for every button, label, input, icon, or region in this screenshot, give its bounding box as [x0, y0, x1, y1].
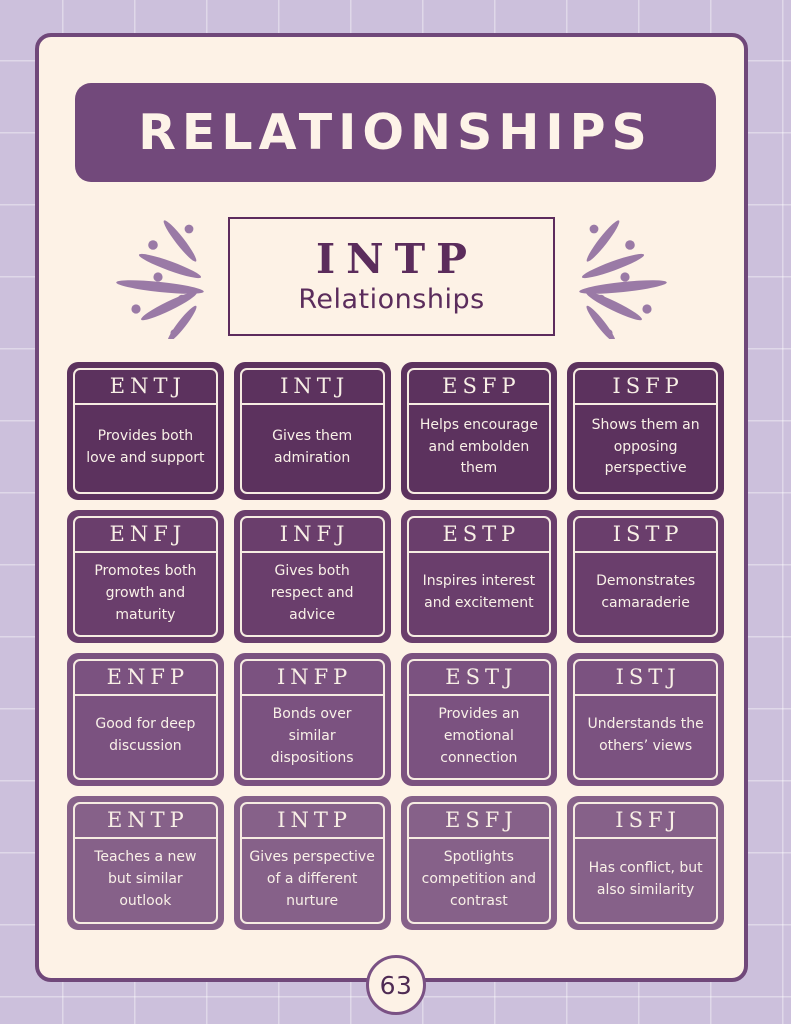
- type-card-code: ENFJ: [75, 518, 216, 553]
- type-card-inner: ESFJSpotlights competition and contrast: [407, 802, 552, 924]
- type-card-description: Gives both respect and advice: [242, 553, 383, 636]
- type-card-inner: ISFJHas conflict, but also similarity: [573, 802, 718, 924]
- type-card-code: ENFP: [75, 661, 216, 696]
- poster-page: RELATIONSHIPS INTP: [0, 0, 791, 1024]
- type-card-description: Good for deep discussion: [75, 696, 216, 778]
- type-card-inner: INTJGives them admiration: [240, 368, 385, 494]
- type-card[interactable]: ENFJPromotes both growth and maturity: [67, 510, 224, 643]
- type-card-code: ESTJ: [409, 661, 550, 696]
- type-card-description: Bonds over similar dispositions: [242, 696, 383, 779]
- type-card-description: Teaches a new but similar outlook: [75, 839, 216, 922]
- type-card-description: Understands the others’ views: [575, 696, 716, 778]
- title-banner: RELATIONSHIPS: [75, 83, 716, 182]
- type-card-inner: ENFJPromotes both growth and maturity: [73, 516, 218, 637]
- subtitle-box: INTP Relationships: [228, 217, 555, 336]
- type-card-description: Helps encourage and embolden them: [409, 405, 550, 492]
- type-card[interactable]: INTPGives perspective of a different nur…: [234, 796, 391, 930]
- type-card-code: ISTJ: [575, 661, 716, 696]
- type-card[interactable]: ENTPTeaches a new but similar outlook: [67, 796, 224, 930]
- type-card-description: Provides an emotional connection: [409, 696, 550, 779]
- type-card-inner: INFPBonds over similar dispositions: [240, 659, 385, 780]
- type-card[interactable]: ENTJProvides both love and support: [67, 362, 224, 500]
- type-card[interactable]: ESFJSpotlights competition and contrast: [401, 796, 558, 930]
- type-card-inner: ISFPShows them an opposing perspective: [573, 368, 718, 494]
- type-card-inner: ESTJProvides an emotional connection: [407, 659, 552, 780]
- type-card-code: INFJ: [242, 518, 383, 553]
- type-card[interactable]: ISTJUnderstands the others’ views: [567, 653, 724, 786]
- type-card[interactable]: ESTJProvides an emotional connection: [401, 653, 558, 786]
- type-card-description: Promotes both growth and maturity: [75, 553, 216, 636]
- subtitle-type-code: INTP: [305, 238, 478, 281]
- type-card-code: ISFP: [575, 370, 716, 405]
- type-card-inner: INFJGives both respect and advice: [240, 516, 385, 637]
- page-number-badge: 63: [366, 955, 426, 1015]
- type-card-description: Spotlights competition and contrast: [409, 839, 550, 922]
- type-card-code: ESFJ: [409, 804, 550, 839]
- sparkle-burst-icon: [112, 214, 222, 339]
- sparkle-burst-icon: [561, 214, 671, 339]
- type-card-description: Gives perspective of a different nurture: [242, 839, 383, 922]
- type-card-description: Shows them an opposing perspective: [575, 405, 716, 492]
- type-card-inner: ENFPGood for deep discussion: [73, 659, 218, 780]
- type-card-code: INTP: [242, 804, 383, 839]
- type-card-code: ISTP: [575, 518, 716, 553]
- type-card-code: INTJ: [242, 370, 383, 405]
- type-card[interactable]: INFJGives both respect and advice: [234, 510, 391, 643]
- type-card-code: ESTP: [409, 518, 550, 553]
- type-card[interactable]: ISTPDemonstrates camaraderie: [567, 510, 724, 643]
- type-card-inner: ISTPDemonstrates camaraderie: [573, 516, 718, 637]
- type-card-description: Inspires interest and excitement: [409, 553, 550, 635]
- type-card[interactable]: ENFPGood for deep discussion: [67, 653, 224, 786]
- type-card-code: INFP: [242, 661, 383, 696]
- page-title: RELATIONSHIPS: [138, 108, 653, 157]
- type-card-description: Gives them admiration: [242, 405, 383, 492]
- type-card-inner: ENTPTeaches a new but similar outlook: [73, 802, 218, 924]
- type-card-inner: ISTJUnderstands the others’ views: [573, 659, 718, 780]
- poster-sheet: RELATIONSHIPS INTP: [35, 33, 748, 982]
- type-card-inner: ESFPHelps encourage and embolden them: [407, 368, 552, 494]
- type-card-code: ENTJ: [75, 370, 216, 405]
- type-card[interactable]: ESFPHelps encourage and embolden them: [401, 362, 558, 500]
- type-card-code: ESFP: [409, 370, 550, 405]
- type-card-inner: ENTJProvides both love and support: [73, 368, 218, 494]
- type-card-code: ENTP: [75, 804, 216, 839]
- type-card-grid: ENTJProvides both love and supportINTJGi…: [67, 362, 724, 930]
- type-card-code: ISFJ: [575, 804, 716, 839]
- type-card-description: Demonstrates camaraderie: [575, 553, 716, 635]
- type-card-description: Provides both love and support: [75, 405, 216, 492]
- subtitle-row: INTP Relationships: [39, 209, 744, 344]
- type-card[interactable]: INTJGives them admiration: [234, 362, 391, 500]
- type-card-inner: ESTPInspires interest and excitement: [407, 516, 552, 637]
- type-card-inner: INTPGives perspective of a different nur…: [240, 802, 385, 924]
- type-card[interactable]: ISFJHas conflict, but also similarity: [567, 796, 724, 930]
- subtitle-label: Relationships: [298, 286, 484, 314]
- type-card[interactable]: ESTPInspires interest and excitement: [401, 510, 558, 643]
- type-card[interactable]: INFPBonds over similar dispositions: [234, 653, 391, 786]
- type-card-description: Has conflict, but also similarity: [575, 839, 716, 922]
- type-card[interactable]: ISFPShows them an opposing perspective: [567, 362, 724, 500]
